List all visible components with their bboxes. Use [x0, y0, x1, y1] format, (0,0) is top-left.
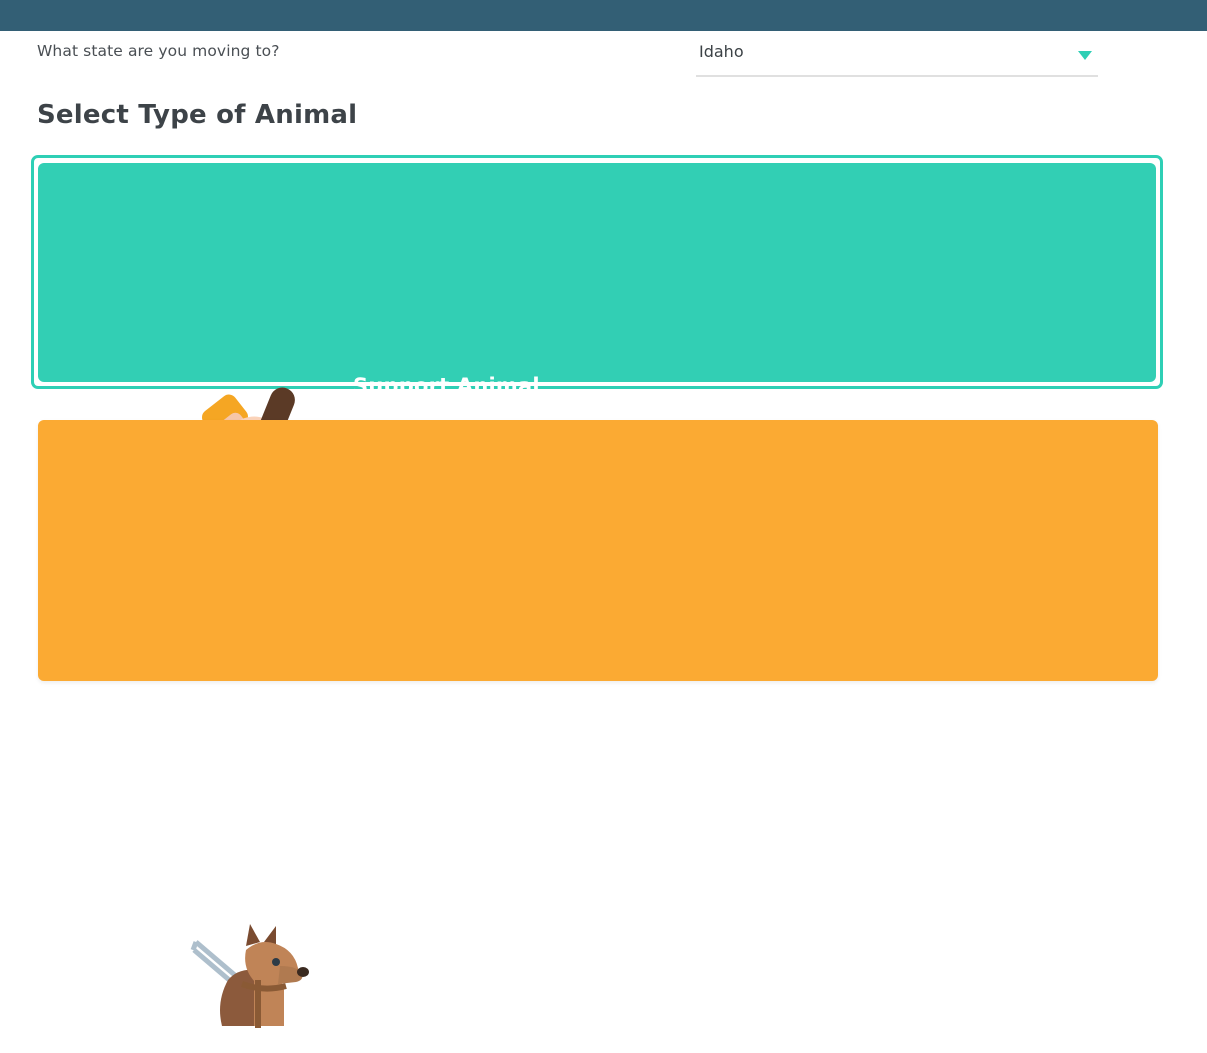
guide-dog-with-harness-icon	[188, 910, 316, 1038]
support-animal-title: Support Animal	[353, 374, 1018, 398]
card-service-animal[interactable]: Service Animal Any dog that is individua…	[38, 420, 1158, 681]
service-animal-text: Service Animal Any dog that is individua…	[353, 886, 1018, 1053]
card-support-animal[interactable]: Support Animal Trained or untrained anim…	[38, 163, 1156, 382]
page-title: Select Type of Animal	[37, 100, 357, 130]
state-question-row: What state are you moving to? Idaho	[0, 31, 1207, 93]
state-select[interactable]: Idaho	[696, 37, 1098, 77]
service-animal-description: Any dog that is individually trained to …	[353, 920, 1018, 1053]
state-select-value: Idaho	[699, 42, 744, 61]
service-animal-title: Service Animal	[353, 886, 1018, 910]
chevron-down-icon[interactable]	[1078, 51, 1092, 60]
service-animal-radio[interactable]	[132, 955, 167, 990]
state-question-label: What state are you moving to?	[37, 42, 280, 60]
app-header-bar	[0, 0, 1207, 31]
